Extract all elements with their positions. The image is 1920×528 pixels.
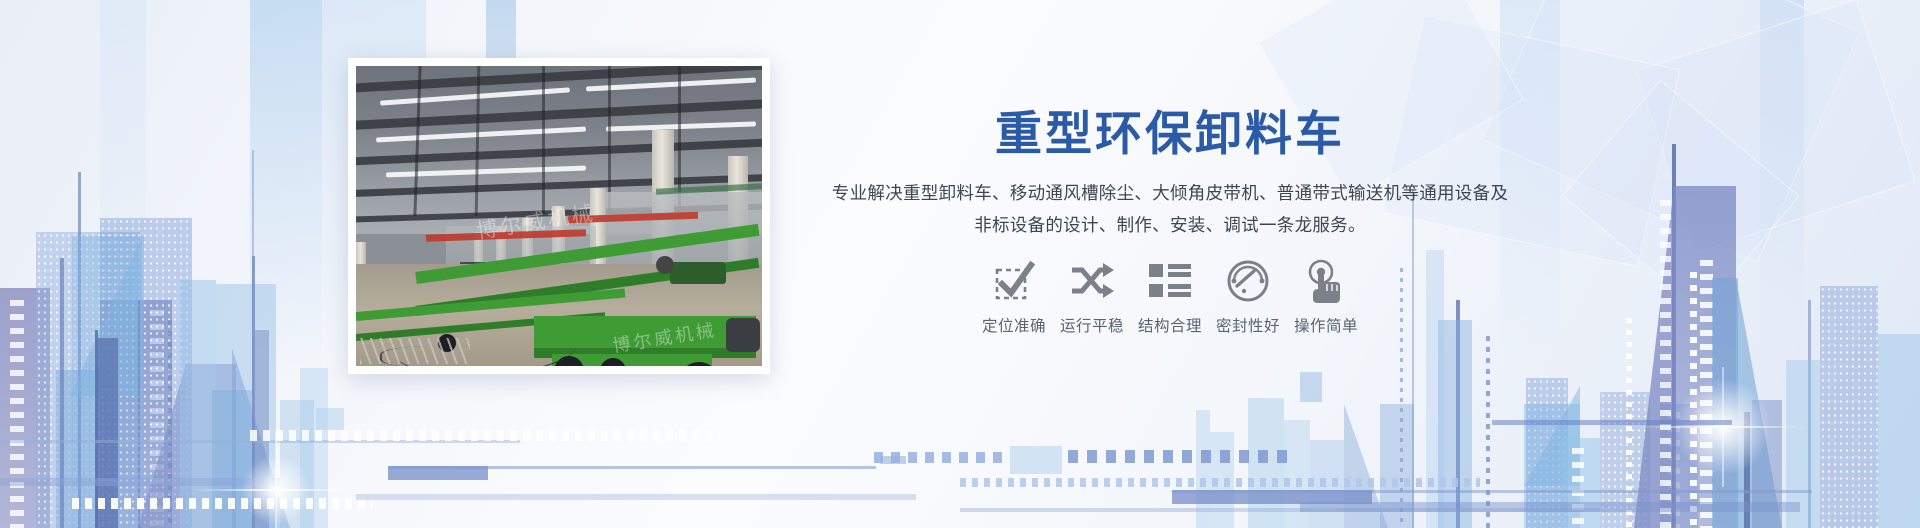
- bg-antenna: [95, 330, 98, 528]
- bg-facet: [1562, 79, 1799, 312]
- feature-list: 定位准确 运行平稳: [834, 258, 1506, 336]
- bg-building: [186, 364, 236, 528]
- bg-vertical-line: [252, 150, 254, 470]
- bg-building: [1526, 378, 1568, 528]
- bg-antenna: [252, 256, 255, 528]
- feature-item-structure[interactable]: 结构合理: [1131, 258, 1209, 336]
- feature-item-sealing[interactable]: 密封性好: [1209, 258, 1287, 336]
- feature-item-positioning[interactable]: 定位准确: [975, 258, 1053, 336]
- bg-dotted-column: [1690, 272, 1697, 528]
- bg-building: [1600, 392, 1650, 528]
- page-description: 专业解决重型卸料车、移动通风槽除尘、大倾角皮带机、普通带式输送机等通用设备及非标…: [820, 178, 1520, 242]
- photo-rafter: [542, 66, 545, 214]
- bg-building: [0, 288, 50, 528]
- bg-building: [36, 232, 140, 528]
- bg-dotted-row: [250, 430, 720, 441]
- bg-building: [180, 280, 216, 528]
- bg-building-triangle: [1634, 186, 1674, 528]
- bg-building: [56, 370, 116, 528]
- feature-label: 操作简单: [1294, 314, 1358, 336]
- feature-label: 密封性好: [1216, 314, 1280, 336]
- bg-building: [100, 218, 192, 528]
- feature-item-operation[interactable]: 操作简单: [1287, 258, 1365, 336]
- bg-bar: [0, 440, 520, 443]
- bg-building: [96, 338, 118, 528]
- photo-motor-pulley: [656, 256, 674, 274]
- shuffle-arrows-icon: [1070, 258, 1114, 304]
- bg-antenna: [1744, 412, 1750, 528]
- bg-antenna: [1672, 144, 1676, 528]
- bg-building-triangle: [1524, 386, 1580, 486]
- bg-building: [300, 368, 328, 528]
- bg-bar: [0, 478, 280, 486]
- bg-lens-flare: [236, 450, 316, 528]
- bg-building: [1562, 438, 1600, 528]
- feature-label: 运行平稳: [1060, 314, 1124, 336]
- bg-square: [316, 408, 344, 430]
- bg-building: [1712, 278, 1738, 528]
- list-blocks-icon: [1149, 258, 1191, 304]
- bg-stripe: [250, 0, 322, 528]
- bg-antenna: [78, 172, 81, 528]
- bg-building: [280, 400, 314, 528]
- bg-antenna: [60, 258, 64, 528]
- bg-dotted-column: [1626, 318, 1632, 528]
- checkbox-check-icon: [993, 258, 1035, 304]
- bg-building-triangle: [1736, 278, 1782, 528]
- bg-bar: [388, 466, 488, 480]
- page-title: 重型环保卸料车: [820, 108, 1520, 160]
- bg-building: [212, 390, 252, 528]
- bg-building: [1786, 360, 1820, 528]
- photo-roller: [726, 318, 760, 352]
- bg-antenna: [1808, 300, 1811, 528]
- feature-label: 结构合理: [1138, 314, 1202, 336]
- hero-content: 重型环保卸料车 专业解决重型卸料车、移动通风槽除尘、大倾角皮带机、普通带式输送机…: [820, 0, 1520, 528]
- feature-item-stability[interactable]: 运行平稳: [1053, 258, 1131, 336]
- bg-building-windows: [1660, 200, 1671, 528]
- bg-building-windows: [10, 300, 24, 528]
- product-hero-banner: 博尔威机械 博尔威机械 重型环保卸料车 专业解决重型卸料车、移动通风槽除尘、大倾…: [0, 0, 1920, 528]
- bg-lens-flare: [1668, 372, 1778, 482]
- bg-facet: [1636, 0, 1916, 253]
- bg-building: [255, 330, 269, 528]
- product-photo: 博尔威机械 博尔威机械: [356, 66, 762, 366]
- bg-building-windows: [150, 310, 164, 528]
- bg-building-windows: [1668, 412, 1680, 528]
- bg-building: [1878, 334, 1920, 528]
- bg-building: [1524, 404, 1580, 528]
- bg-building-triangle: [138, 364, 186, 528]
- bg-bar: [1492, 420, 1732, 425]
- bg-stripe: [1760, 0, 1804, 528]
- photo-motor: [670, 262, 726, 284]
- bg-stripe: [100, 0, 146, 528]
- bg-building: [1820, 286, 1878, 528]
- photo-rebar: [360, 338, 470, 364]
- bg-bar: [388, 466, 876, 469]
- bg-building: [1752, 400, 1782, 528]
- feature-label: 定位准确: [982, 314, 1046, 336]
- gauge-dial-icon: [1226, 258, 1270, 304]
- bg-building-windows: [1572, 448, 1584, 528]
- bg-building: [1674, 186, 1736, 528]
- bg-antenna: [138, 300, 140, 528]
- bg-building-triangle: [232, 348, 290, 528]
- bg-dotted-row: [72, 498, 372, 509]
- tap-hand-icon: [1305, 258, 1347, 304]
- bg-building: [100, 300, 172, 528]
- bg-building-triangle: [70, 236, 142, 396]
- bg-building: [1660, 404, 1698, 528]
- bg-dotted-column: [168, 320, 172, 528]
- bg-building-windows: [1700, 260, 1713, 528]
- product-photo-frame: 博尔威机械 博尔威机械: [348, 58, 770, 374]
- bg-building: [216, 284, 276, 528]
- bg-building: [72, 236, 144, 528]
- bg-facet: [1482, 0, 1860, 263]
